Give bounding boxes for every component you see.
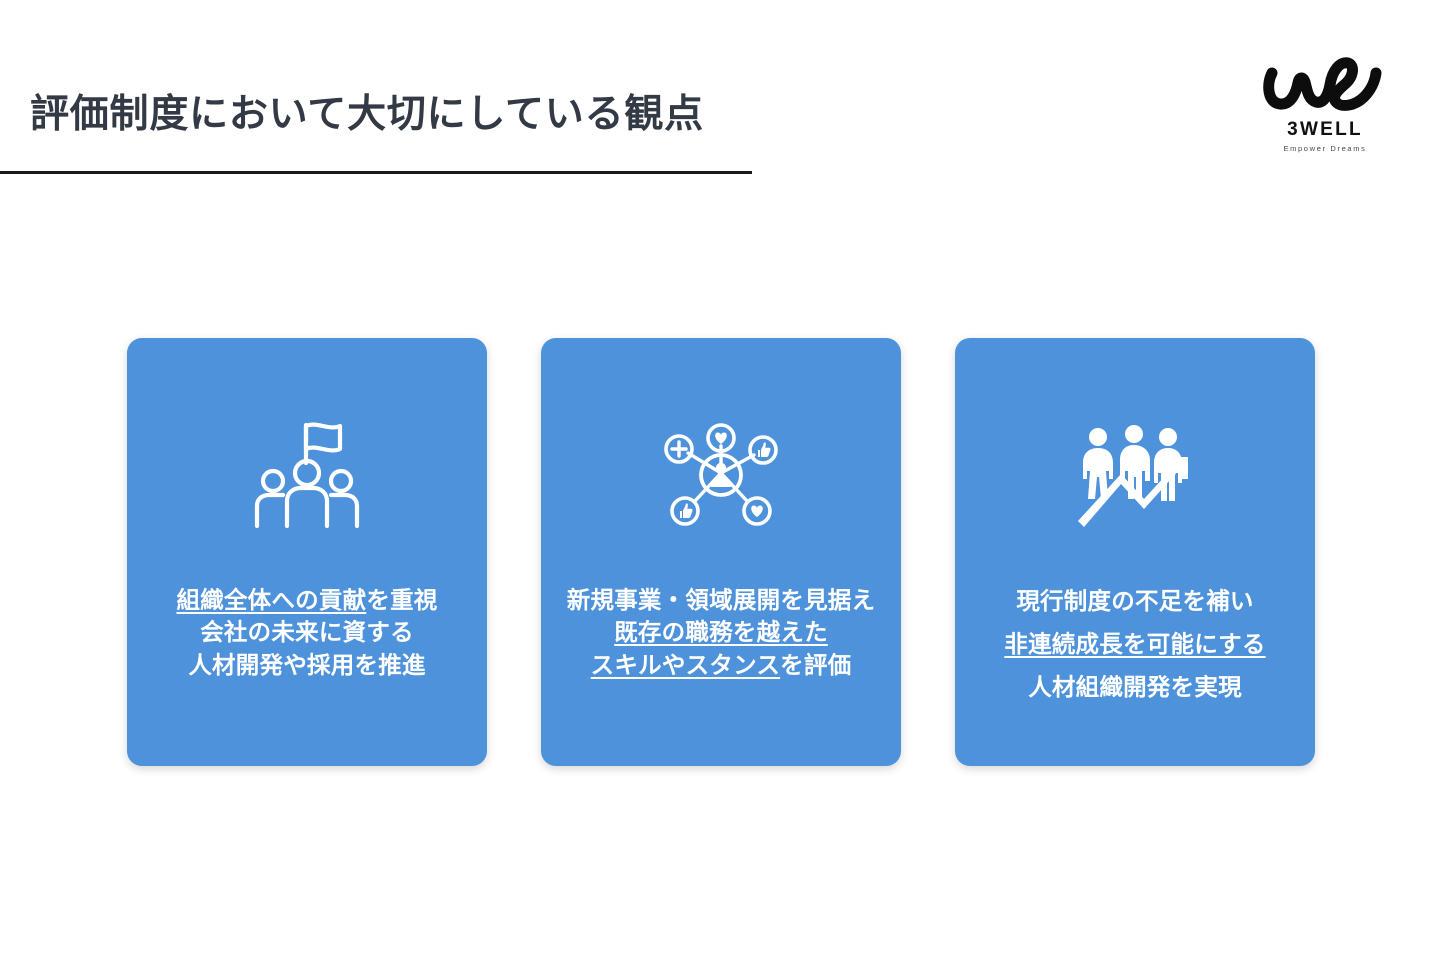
card-text: 新規事業・領域展開を見据え既存の職務を越えたスキルやスタンスを評価: [551, 584, 891, 681]
card-contribution: 組織全体への貢献を重視会社の未来に資する人材開発や採用を推進: [127, 338, 487, 766]
page-title: 評価制度において大切にしている観点: [30, 92, 704, 139]
plain-text: 現行制度の不足を補い: [1016, 588, 1253, 614]
logo-tagline: Empower Dreams: [1245, 145, 1405, 153]
card-text-line: 組織全体への貢献を重視: [137, 584, 477, 616]
card-growth: 現行制度の不足を補い非連続成長を可能にする人材組織開発を実現: [955, 338, 1315, 766]
card-skills-stance: 新規事業・領域展開を見据え既存の職務を越えたスキルやスタンスを評価: [541, 338, 901, 766]
card-text-line: 人材組織開発を実現: [965, 666, 1305, 709]
logo-wordmark: 3WELL: [1245, 120, 1405, 139]
plain-text: 人材開発や採用を推進: [188, 652, 425, 678]
people-with-flag-icon: [242, 416, 372, 536]
plain-text: 新規事業・領域展開を見据え: [567, 587, 876, 613]
card-text: 現行制度の不足を補い非連続成長を可能にする人材組織開発を実現: [965, 580, 1305, 708]
people-growth-arrow-icon: [1070, 416, 1200, 536]
emphasis-underlined-text: スキルやスタンス: [591, 652, 780, 678]
emphasis-underlined-text: 組織全体への貢献: [176, 587, 366, 613]
card-text-line: 現行制度の不足を補い: [965, 580, 1305, 623]
card-text-line: 既存の職務を越えた: [551, 616, 891, 648]
plain-text: を評価: [780, 652, 851, 678]
emphasis-underlined-text: 既存の職務を越えた: [614, 619, 828, 645]
card-text-line: 非連続成長を可能にする: [965, 623, 1305, 666]
card-text-line: 人材開発や採用を推進: [137, 649, 477, 681]
brand-logo: 3WELL Empower Dreams: [1245, 55, 1405, 165]
card-text-line: スキルやスタンスを評価: [551, 649, 891, 681]
card-text-line: 新規事業・領域展開を見据え: [551, 584, 891, 616]
plain-text: 会社の未来に資する: [200, 619, 414, 645]
card-text: 組織全体への貢献を重視会社の未来に資する人材開発や採用を推進: [137, 584, 477, 681]
cards-row: 組織全体への貢献を重視会社の未来に資する人材開発や採用を推進: [127, 338, 1315, 766]
card-text-line: 会社の未来に資する: [137, 616, 477, 648]
title-underline-rule: [0, 171, 752, 174]
emphasis-underlined-text: 非連続成長を可能にする: [1004, 631, 1265, 657]
plain-text: を重視: [366, 587, 437, 613]
we-script-logo-icon: [1260, 55, 1390, 117]
plain-text: 人材組織開発を実現: [1028, 674, 1242, 700]
slide-header: 評価制度において大切にしている観点: [0, 0, 1440, 200]
person-network-reactions-icon: [656, 416, 786, 536]
